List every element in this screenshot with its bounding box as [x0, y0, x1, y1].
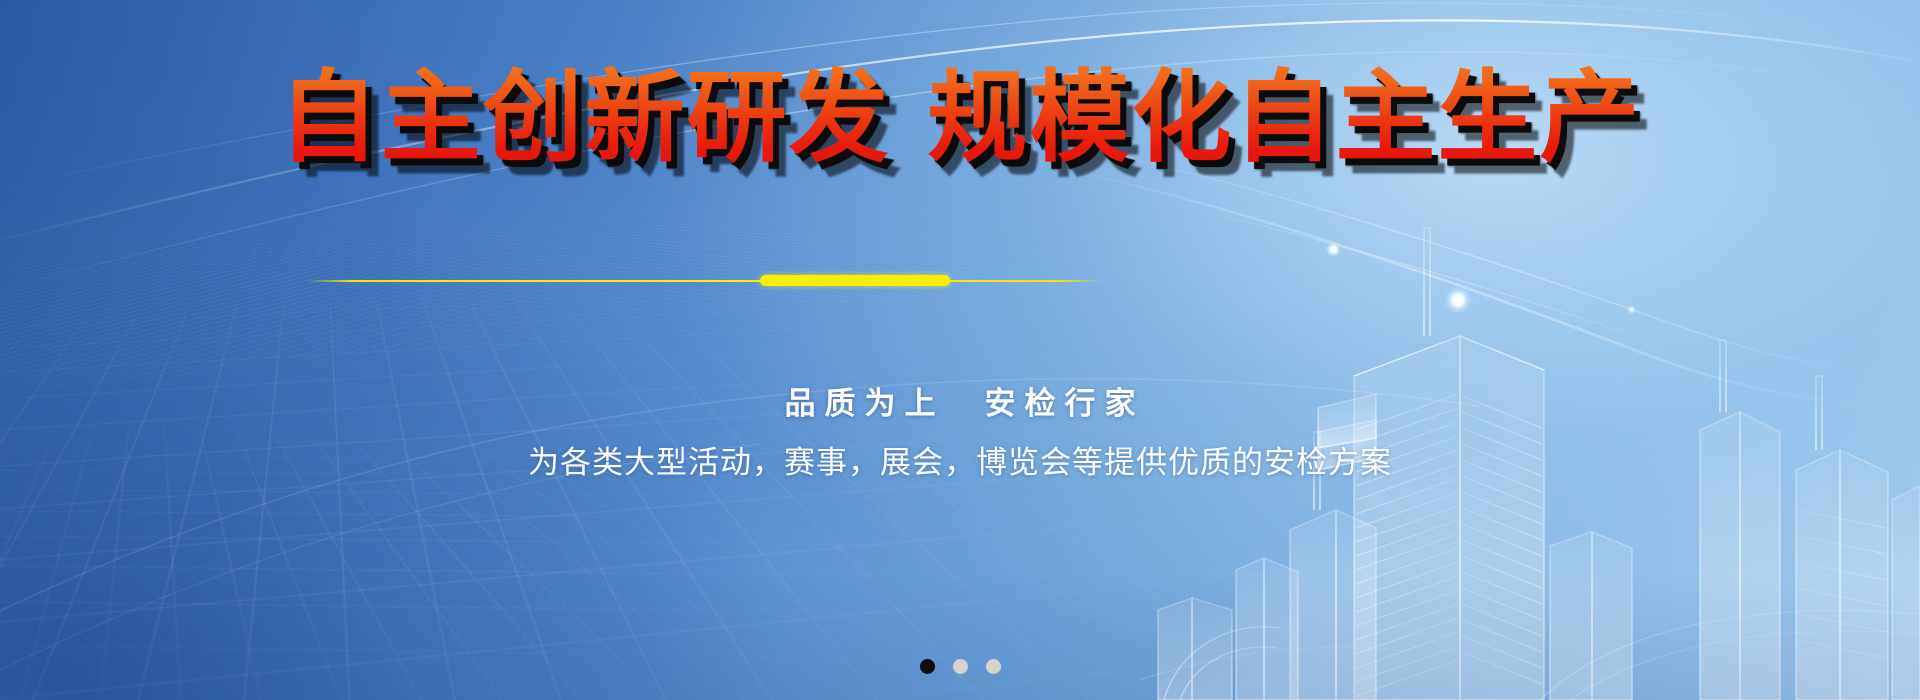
hero-banner-slide[interactable]: 自主创新研发 规模化自主生产 品质为上 安检行家 为各类大型活动，赛事，展会，博…: [0, 0, 1920, 700]
carousel-dot-1[interactable]: [920, 659, 935, 674]
divider-thin-rule-icon: [305, 280, 1105, 282]
banner-subtitle-primary: 品质为上 安检行家: [0, 378, 1920, 423]
carousel-dot-3[interactable]: [986, 659, 1001, 674]
divider-thick-rule-icon: [760, 275, 950, 286]
carousel-dots[interactable]: [0, 659, 1920, 674]
banner-content: 自主创新研发 规模化自主生产 品质为上 安检行家 为各类大型活动，赛事，展会，博…: [0, 0, 1920, 700]
banner-headline: 自主创新研发 规模化自主生产: [0, 62, 1920, 174]
carousel-dot-2[interactable]: [953, 659, 968, 674]
banner-subtitle-secondary: 为各类大型活动，赛事，展会，博览会等提供优质的安检方案: [0, 437, 1920, 482]
yellow-divider: [0, 274, 1920, 288]
